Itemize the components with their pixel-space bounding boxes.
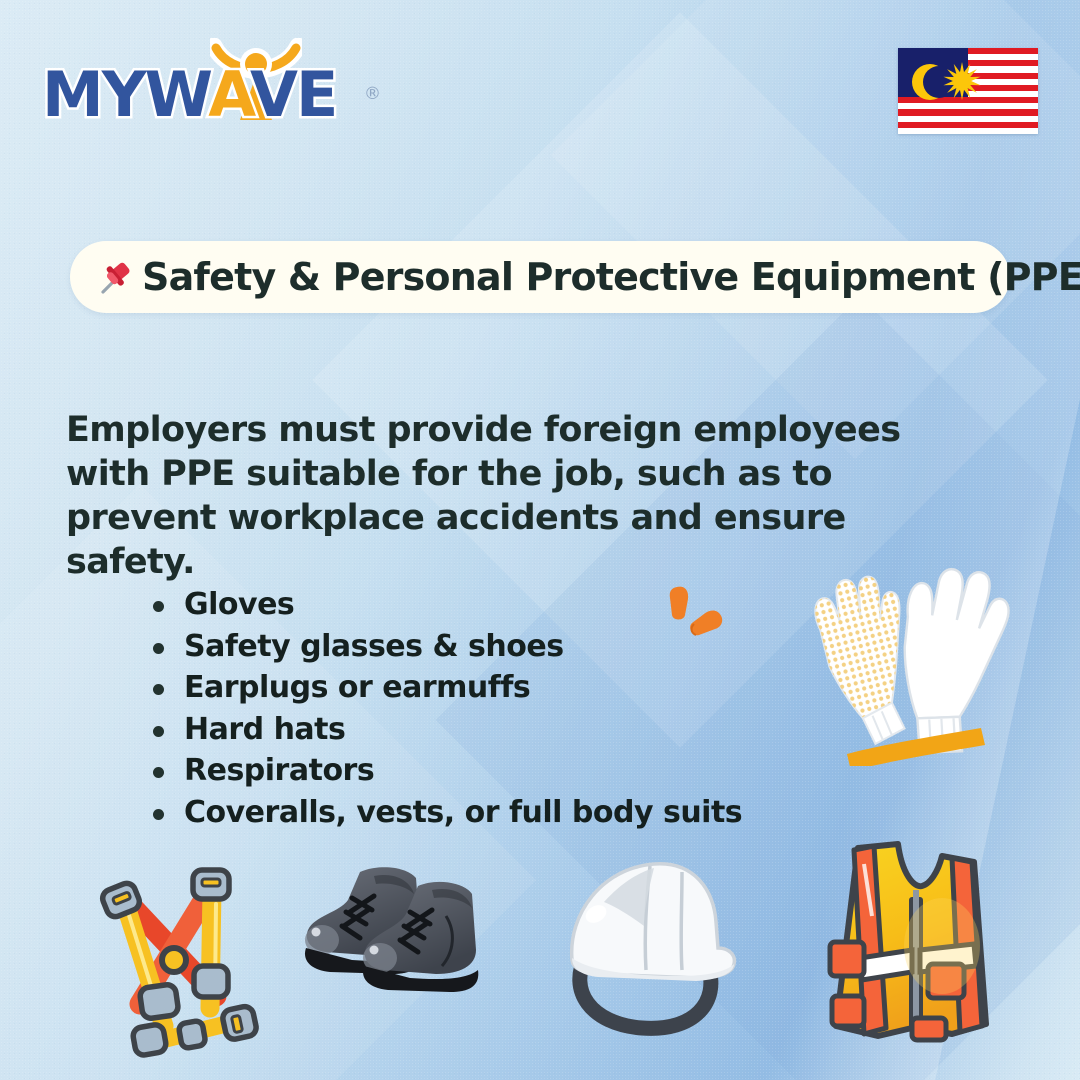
list-item: Safety glasses & shoes [150,632,742,663]
page-title: Safety & Personal Protective Equipment (… [142,255,1080,299]
logo-text-mywa-part1: MYW [42,58,208,131]
safety-boots-illustration [296,856,488,1008]
list-item-label: Safety glasses & shoes [184,629,564,664]
list-item: Earplugs or earmuffs [150,673,742,704]
bullet-dot-icon [153,726,164,737]
list-item-label: Respirators [184,753,374,788]
bullet-dot-icon [153,809,164,820]
ppe-list: Gloves Safety glasses & shoes Earplugs o… [150,590,742,840]
malaysia-flag-icon [898,48,1038,134]
work-gloves-illustration [795,556,1045,766]
bullet-dot-icon [153,643,164,654]
bullet-dot-icon [153,767,164,778]
title-banner: Safety & Personal Protective Equipment (… [70,241,1010,313]
hard-hat-illustration [558,852,748,1037]
list-item: Gloves [150,590,742,621]
pushpin-icon [96,256,138,298]
list-item-label: Gloves [184,587,294,622]
logo-text-part2: VE [250,58,336,131]
bullet-dot-icon [153,601,164,612]
list-item-label: Coveralls, vests, or full body suits [184,795,742,830]
mywave-logo: MYWAVE ® [42,38,362,118]
list-item-label: Earplugs or earmuffs [184,670,530,705]
list-item: Hard hats [150,715,742,746]
flag-star-icon [942,61,982,101]
safety-vest-illustration [802,838,994,1043]
list-item: Coveralls, vests, or full body suits [150,798,742,829]
logo-text-highlight: A [208,58,250,131]
list-item: Respirators [150,756,742,787]
registered-trademark-icon: ® [364,84,381,104]
earplugs-illustration [663,583,731,645]
bullet-dot-icon [153,684,164,695]
safety-harness-illustration [88,856,266,1061]
logo-wordmark: MYWAVE [42,64,336,126]
poster-canvas: MYWAVE ® [0,0,1080,1080]
list-item-label: Hard hats [184,712,345,747]
